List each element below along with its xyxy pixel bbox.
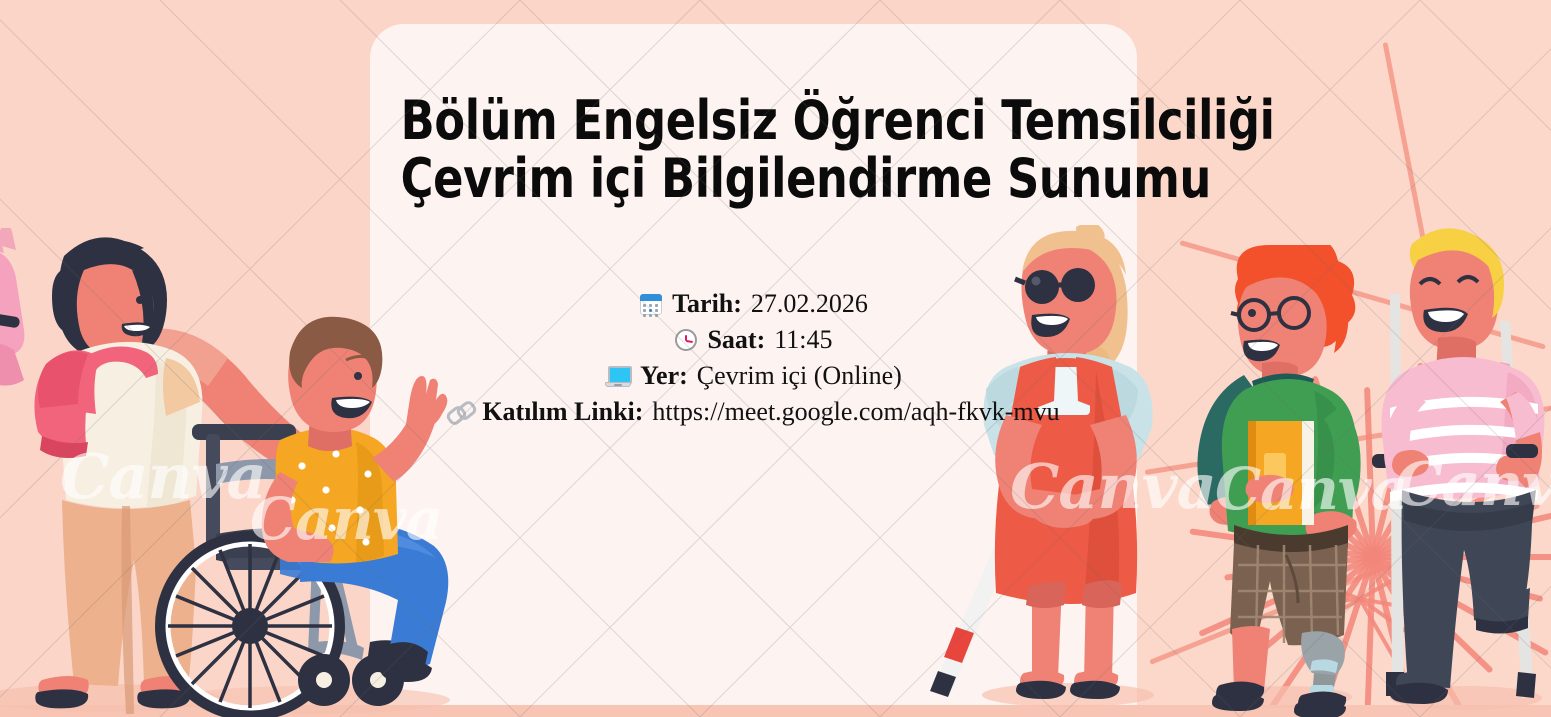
detail-row-date: Tarih: 27.02.2026 [370,286,1137,322]
location-label: Yer: [640,361,688,391]
title-line-2: Çevrim içi Bilgilendirme Sunumu [401,150,1107,208]
illustration-man-with-crutches [1366,222,1551,717]
join-link-label: Katılım Linki: [482,397,643,427]
title-line-1: Bölüm Engelsiz Öğrenci Temsilciliği [401,92,1107,150]
laptop-icon [605,365,631,387]
link-icon [447,401,473,423]
date-value: 27.02.2026 [751,289,868,319]
join-link-value[interactable]: https://meet.google.com/aqh-fkvk-mvu [652,397,1059,427]
location-value: Çevrim içi (Online) [697,361,902,391]
calendar-icon [639,292,663,316]
clock-icon [674,328,698,352]
date-label: Tarih: [672,289,742,319]
event-details: Tarih: 27.02.2026 Saat: 11:45 Yer: Çevri… [370,286,1137,430]
detail-row-join-link[interactable]: Katılım Linki: https://meet.google.com/a… [370,394,1137,430]
detail-row-location: Yer: Çevrim içi (Online) [370,358,1137,394]
illustration-boy-with-prosthetic-leg [1190,245,1380,717]
time-value: 11:45 [774,325,832,355]
poster-title: Bölüm Engelsiz Öğrenci Temsilciliği Çevr… [370,92,1137,208]
poster-canvas: Canva Canva Canva Canva Canva [0,0,1551,717]
time-label: Saat: [707,325,765,355]
detail-row-time: Saat: 11:45 [370,322,1137,358]
